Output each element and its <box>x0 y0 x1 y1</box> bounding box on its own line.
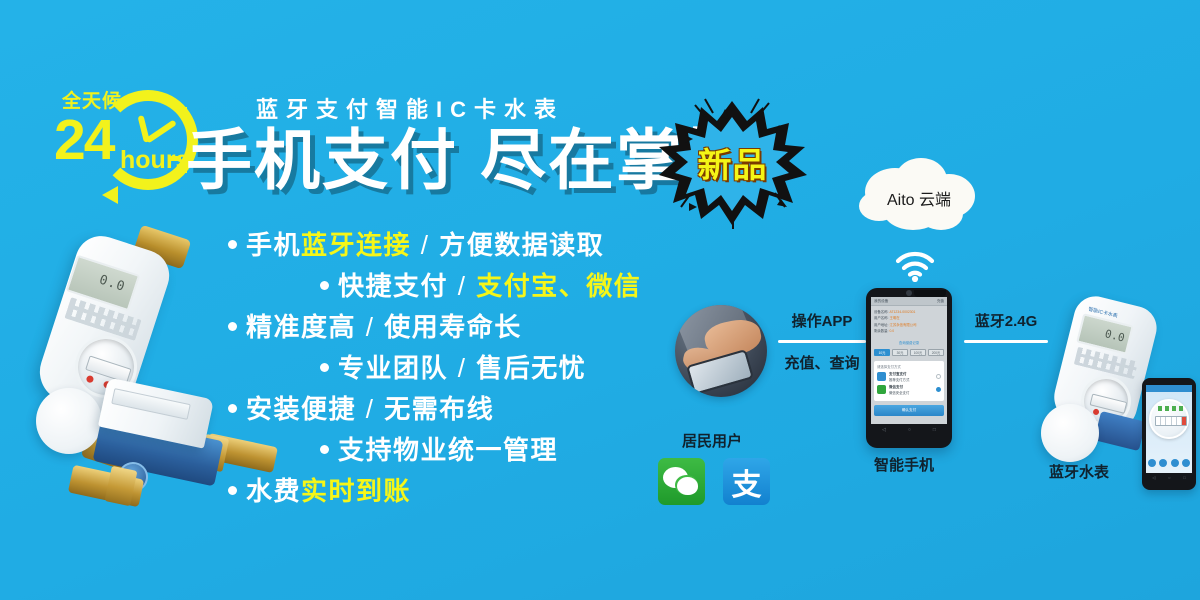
feature-highlight: 实时到账 <box>301 476 411 506</box>
app-header-back[interactable]: 我的设备 <box>874 299 888 304</box>
app-info-label: 用户名称: <box>874 316 889 320</box>
resident-user-photo <box>675 305 767 397</box>
app-info-label: 剩余数量: <box>874 329 889 333</box>
bluetooth-water-meter-caption: 蓝牙水表 <box>1049 461 1109 482</box>
feature-plain: 精准度高 <box>246 312 356 342</box>
feature-plain: 无需布线 <box>384 394 494 424</box>
app-header: 我的设备 充值 <box>871 297 947 306</box>
alipay-icon <box>877 372 886 381</box>
nav-recents-icon[interactable]: □ <box>933 427 936 433</box>
app-info-value: 江苏永信有限公司 <box>889 323 916 327</box>
app-history-link[interactable]: 查询缴费记录 <box>871 338 947 347</box>
app-payment-title: 支付宝支付 <box>889 372 933 377</box>
phone-screen: 我的设备 充值 设备名称: AT1234-0002301用户名称: 王明在用户地… <box>871 297 947 435</box>
app-payment-title: 微信支付 <box>889 385 933 390</box>
gauge-digit-readout <box>1155 416 1187 426</box>
meter-dial-indicator-1 <box>86 375 95 384</box>
app-payment-subtitle: 推荐支付方式 <box>889 378 909 382</box>
feature-plain: 快捷支付 <box>338 271 448 301</box>
action-icon-4[interactable] <box>1182 459 1190 467</box>
smart-phone-device: 我的设备 充值 设备名称: AT1234-0002301用户名称: 王明在用户地… <box>866 288 952 448</box>
app-payment-radio[interactable] <box>936 387 941 392</box>
feature-list: 手机蓝牙连接 / 方便数据读取快捷支付 / 支付宝、微信精准度高 / 使用寿命长… <box>228 232 698 519</box>
wechat-pay-icon[interactable] <box>658 458 705 505</box>
feature-plain: 专业团队 <box>338 353 448 383</box>
app-payment-rows: 支付宝支付推荐支付方式微信支付微信安全支付 <box>877 372 941 395</box>
feature-plain: / <box>356 312 384 342</box>
feature-item: 支持物业统一管理 <box>228 437 698 463</box>
nav-back-icon[interactable]: ◁ <box>882 427 886 433</box>
meter-reading-action-icons <box>1146 459 1192 467</box>
feature-plain: / <box>356 394 384 424</box>
cloud-label: Aito 云端 <box>855 152 983 240</box>
feature-highlight: 蓝牙连接 <box>301 230 411 260</box>
bt-meter-protective-cap <box>1041 404 1099 462</box>
app-confirm-button[interactable]: 确认支付 <box>874 405 944 416</box>
app-info-value: AT1234-0002301 <box>889 310 915 314</box>
action-icon-3[interactable] <box>1171 459 1179 467</box>
app-connector: 操作APP 充值、查询 <box>774 310 870 373</box>
feature-item: 安装便捷 / 无需布线 <box>228 396 698 422</box>
bt-meter-blue-base <box>1094 411 1146 451</box>
badge-number: 24 <box>54 112 113 169</box>
feature-text: 安装便捷 / 无需布线 <box>246 396 494 422</box>
phone-earpiece <box>914 290 946 297</box>
app-amount-tab[interactable]: 200元 <box>928 349 944 356</box>
bullet-dot <box>228 240 237 249</box>
bullet-dot <box>228 322 237 331</box>
nav-home-icon[interactable]: ○ <box>908 427 911 433</box>
valve-control-water-meter-photo <box>78 388 283 523</box>
feature-plain: 售后无忧 <box>476 353 586 383</box>
feature-item: 手机蓝牙连接 / 方便数据读取 <box>228 232 698 258</box>
feature-item: 快捷支付 / 支付宝、微信 <box>228 273 698 299</box>
cloud-node: Aito 云端 <box>855 152 983 240</box>
feature-text: 支持物业统一管理 <box>338 437 558 463</box>
bullet-dot <box>320 445 329 454</box>
meter-reading-screen: ◁ ○ □ <box>1146 385 1192 481</box>
app-payment-text: 支付宝支付推荐支付方式 <box>889 372 933 382</box>
feature-highlight: 支付宝、微信 <box>476 271 641 301</box>
feature-item: 专业团队 / 售后无忧 <box>228 355 698 381</box>
feature-plain: 使用寿命长 <box>384 312 522 342</box>
resident-user-caption: 居民用户 <box>682 430 742 451</box>
app-payment-text: 微信支付微信安全支付 <box>889 385 933 395</box>
meter-reading-gauge <box>1149 399 1189 439</box>
app-info-label: 用户地址: <box>874 323 889 327</box>
app-device-info: 设备名称: AT1234-0002301用户名称: 王明在用户地址: 江苏永信有… <box>871 306 947 338</box>
app-header-title: 充值 <box>937 299 944 304</box>
all-day-service-badge: 全天候 24 hours <box>48 82 198 202</box>
app-connector-label-top: 操作APP <box>774 310 870 331</box>
feature-plain: / <box>448 353 476 383</box>
clock-tick-12 <box>182 107 187 120</box>
app-payment-row[interactable]: 支付宝支付推荐支付方式 <box>877 372 941 382</box>
feature-text: 快捷支付 / 支付宝、微信 <box>338 273 641 299</box>
phone-camera <box>906 290 912 296</box>
wechat-bubble-small <box>677 477 698 495</box>
app-payment-row[interactable]: 微信支付微信安全支付 <box>877 385 941 395</box>
bt-meter-dial-indicator <box>1092 408 1099 415</box>
feature-plain: / <box>448 271 476 301</box>
feature-text: 专业团队 / 售后无忧 <box>338 355 586 381</box>
app-info-value: 王明在 <box>889 316 899 320</box>
feature-item: 水费实时到账 <box>228 478 698 504</box>
feature-plain: 手机 <box>246 230 301 260</box>
sm-nav-recents-icon[interactable]: □ <box>1183 475 1185 480</box>
wechat-icon <box>877 385 886 394</box>
meter-reading-phone-device: ◁ ○ □ <box>1142 378 1196 490</box>
feature-item: 精准度高 / 使用寿命长 <box>228 314 698 340</box>
gauge-indicator-dots <box>1158 406 1184 411</box>
title-part-1: 手机支付 <box>186 123 458 197</box>
app-payment-radio[interactable] <box>936 374 941 379</box>
badge-unit: hours <box>120 148 189 173</box>
app-connector-label-bottom: 充值、查询 <box>774 352 870 373</box>
new-product-badge: 新品 <box>655 95 810 230</box>
sm-nav-home-icon[interactable]: ○ <box>1168 475 1170 480</box>
app-amount-tabs: 10元30元100元200元 <box>871 347 947 358</box>
feature-plain: 方便数据读取 <box>439 230 604 260</box>
new-product-label: 新品 <box>655 95 810 230</box>
meter-phone-navbar: ◁ ○ □ <box>1146 473 1192 481</box>
action-icon-2[interactable] <box>1159 459 1167 467</box>
banner-subtitle: 蓝牙支付智能IC卡水表 <box>256 92 564 124</box>
promo-banner: 全天候 24 hours 蓝牙支付智能IC卡水表 手机支付尽在掌握 <box>0 0 1200 600</box>
app-amount-tab[interactable]: 30元 <box>892 349 908 356</box>
meter-reading-app-header <box>1146 385 1192 392</box>
app-connector-line <box>778 340 866 343</box>
app-info-row: 剩余数量: 0.0 <box>874 328 944 334</box>
bullet-dot <box>320 281 329 290</box>
feature-text: 手机蓝牙连接 / 方便数据读取 <box>246 232 604 258</box>
smart-phone-caption: 智能手机 <box>874 454 934 475</box>
alipay-icon[interactable]: 支 <box>723 458 770 505</box>
feature-plain: / <box>411 230 439 260</box>
wifi-icon <box>893 248 937 282</box>
clock-arrow-icon <box>102 186 118 204</box>
app-payment-card: 请选择支付方式 支付宝支付推荐支付方式微信支付微信安全支付 <box>874 361 944 401</box>
app-info-value: 0.0 <box>889 329 894 333</box>
sm-nav-back-icon[interactable]: ◁ <box>1152 475 1155 480</box>
app-payment-card-title: 请选择支付方式 <box>877 364 941 369</box>
bullet-dot <box>320 363 329 372</box>
app-payment-subtitle: 微信安全支付 <box>889 391 909 395</box>
feature-text: 精准度高 / 使用寿命长 <box>246 314 522 340</box>
payment-method-icons: 支 <box>658 458 770 505</box>
app-amount-tab[interactable]: 10元 <box>874 349 890 356</box>
action-icon-1[interactable] <box>1148 459 1156 467</box>
android-navbar: ◁ ○ □ <box>871 424 947 435</box>
app-amount-tab[interactable]: 100元 <box>910 349 926 356</box>
feature-plain: 支持物业统一管理 <box>338 435 558 465</box>
app-info-label: 设备名称: <box>874 310 889 314</box>
